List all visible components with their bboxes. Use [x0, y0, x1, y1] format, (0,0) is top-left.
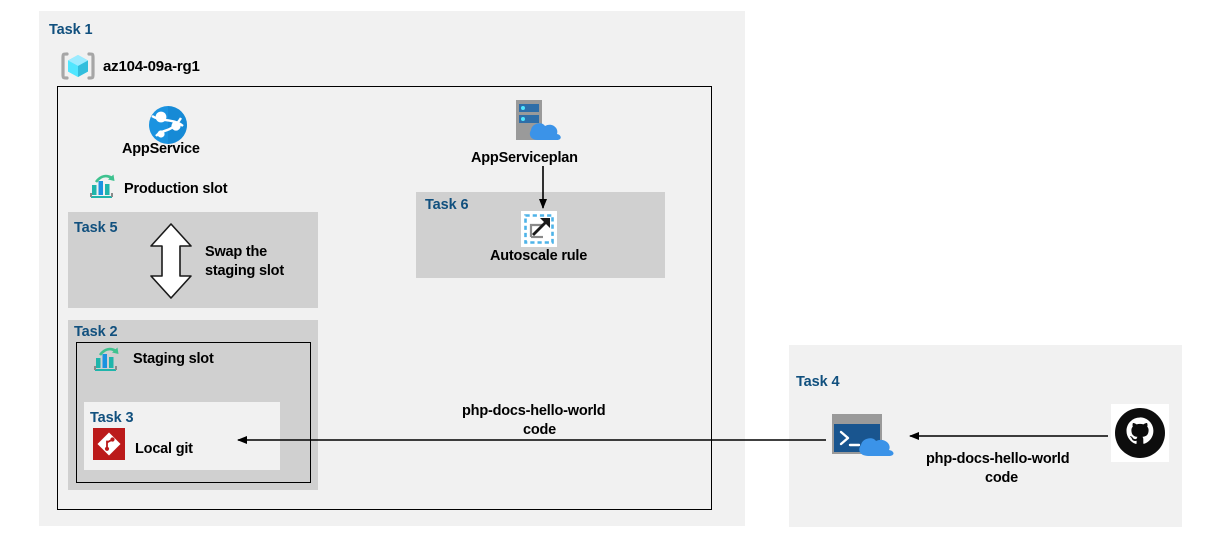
github-edge-label-line1: php-docs-hello-world [926, 450, 1069, 468]
resource-group-icon [60, 48, 96, 84]
github-icon [1111, 404, 1169, 462]
local-git-label: Local git [135, 441, 193, 457]
task6-label: Task 6 [425, 197, 468, 213]
task1-label: Task 1 [49, 22, 92, 38]
code-edge-label-line1: php-docs-hello-world [462, 402, 605, 420]
deployment-slot-icon-production [88, 172, 118, 202]
task3-label: Task 3 [90, 410, 133, 426]
deployment-slot-icon-staging [92, 345, 122, 375]
task2-label: Task 2 [74, 324, 117, 340]
github-edge-label-line2: code [985, 469, 1018, 487]
git-icon [93, 428, 125, 460]
app-service-plan-icon [513, 98, 567, 146]
cloud-shell-icon [832, 414, 900, 458]
task5-label: Task 5 [74, 220, 117, 236]
app-service-plan-label: AppServiceplan [471, 150, 578, 166]
resource-group-label: az104-09a-rg1 [103, 58, 200, 75]
swap-double-arrow-icon [144, 222, 198, 300]
task4-label: Task 4 [796, 374, 839, 390]
swap-label-line2: staging slot [205, 262, 284, 280]
production-slot-label: Production slot [124, 181, 227, 197]
autoscale-icon [521, 211, 557, 247]
code-edge-label-line2: code [523, 421, 556, 439]
app-service-label: AppService [122, 141, 200, 157]
swap-label-line1: Swap the [205, 243, 267, 261]
autoscale-rule-label: Autoscale rule [490, 248, 587, 264]
staging-slot-label: Staging slot [133, 351, 214, 367]
app-service-globe-icon [147, 104, 189, 146]
diagram-canvas: Task 1 az104-09a-rg1 AppService [0, 0, 1218, 545]
